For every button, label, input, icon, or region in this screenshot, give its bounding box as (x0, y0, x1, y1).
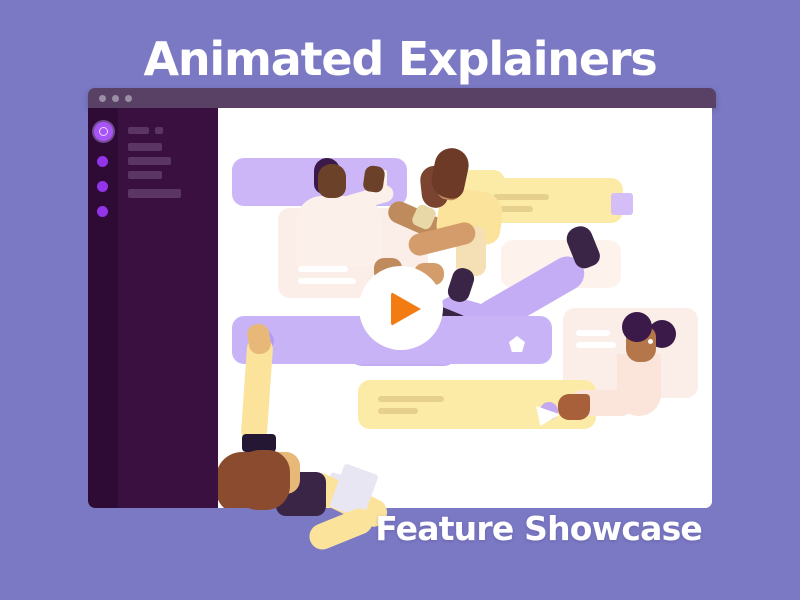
play-button[interactable] (359, 266, 443, 350)
nav-dot-1-icon[interactable] (97, 156, 108, 167)
yellow-card-bottom-line-2 (378, 408, 418, 414)
play-icon (391, 292, 421, 326)
figure-dark-hair-hand (362, 165, 385, 194)
yellow-card-top-line-1 (493, 194, 549, 200)
overflow-hair (234, 450, 290, 510)
app-logo-icon[interactable] (94, 122, 113, 141)
maximize-dot-icon[interactable] (125, 95, 132, 102)
ghost-card-line-3 (576, 330, 610, 336)
sidebar-placeholder-item-2[interactable] (128, 157, 171, 165)
figure-buns-hand (558, 394, 590, 420)
sidebar-placeholder-item-3[interactable] (128, 171, 162, 179)
minimize-dot-icon[interactable] (112, 95, 119, 102)
window-titlebar (88, 88, 716, 108)
close-dot-icon[interactable] (99, 95, 106, 102)
poster-canvas: Animated Explainers Feature Showcase (0, 0, 800, 600)
sidebar-rail (88, 108, 118, 508)
page-subtitle: Feature Showcase (375, 512, 702, 545)
sidebar-placeholder-title (128, 127, 149, 134)
ghost-card-line-1 (298, 266, 348, 272)
purple-thumbnail-icon (611, 193, 633, 215)
figure-buns-eye (648, 339, 653, 344)
sidebar-placeholder-badge (155, 127, 163, 134)
sidebar-placeholder-item-4[interactable] (128, 189, 181, 198)
figure-buns-bun-left (622, 312, 652, 342)
figure-lilac-hand-left (445, 265, 476, 304)
yellow-card-bottom-line-1 (378, 396, 444, 402)
browser-window (88, 88, 716, 510)
ghost-card-line-2 (298, 278, 356, 284)
nav-dot-3-icon[interactable] (97, 206, 108, 217)
sidebar-panel (118, 108, 218, 508)
ghost-card-line-4 (576, 342, 616, 348)
figure-dark-hair-head (318, 164, 346, 198)
nav-dot-2-icon[interactable] (97, 181, 108, 192)
page-title: Animated Explainers (0, 36, 800, 82)
sidebar-placeholder-item-1[interactable] (128, 143, 162, 151)
